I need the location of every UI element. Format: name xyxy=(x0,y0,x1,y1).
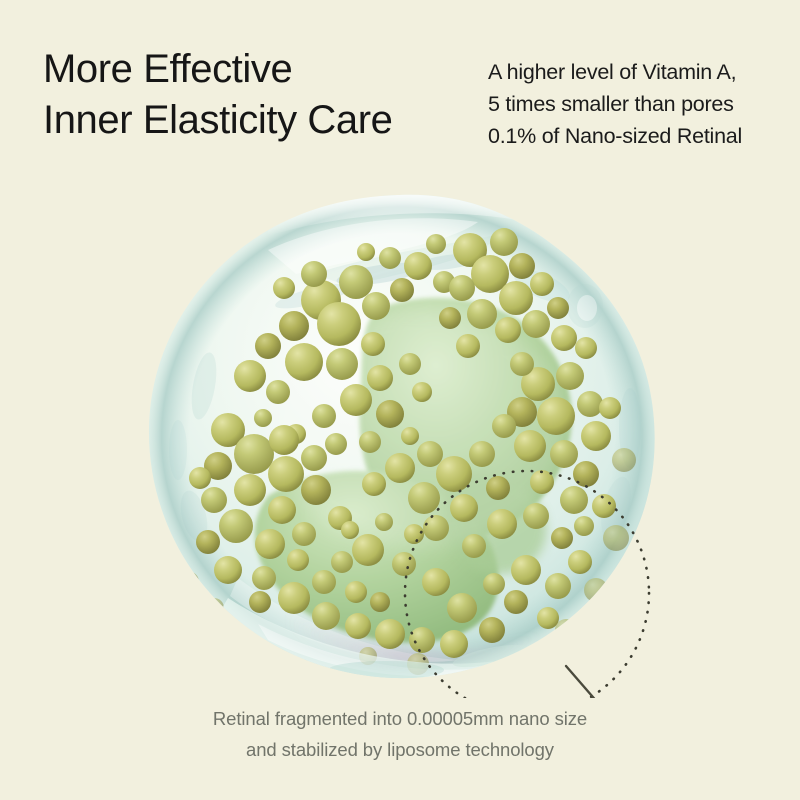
liposome-svg xyxy=(118,178,678,698)
headline-line-1: More Effective xyxy=(43,44,473,95)
subcopy-line-3: 0.1% of Nano-sized Retinal xyxy=(488,120,788,152)
poster-canvas: More Effective Inner Elasticity Care A h… xyxy=(0,0,800,800)
callout-leader-line xyxy=(566,666,618,698)
subcopy-line-1: A higher level of Vitamin A, xyxy=(488,56,788,88)
caption-line-2: and stabilized by liposome technology xyxy=(0,734,800,765)
headline-line-2: Inner Elasticity Care xyxy=(43,95,473,146)
caption-line-1: Retinal fragmented into 0.00005mm nano s… xyxy=(0,703,800,734)
liposome-illustration xyxy=(118,178,678,698)
subcopy-line-2: 5 times smaller than pores xyxy=(488,88,788,120)
caption-block: Retinal fragmented into 0.00005mm nano s… xyxy=(0,703,800,765)
subcopy-block: A higher level of Vitamin A, 5 times sma… xyxy=(488,56,788,152)
page-title: More Effective Inner Elasticity Care xyxy=(43,44,473,146)
